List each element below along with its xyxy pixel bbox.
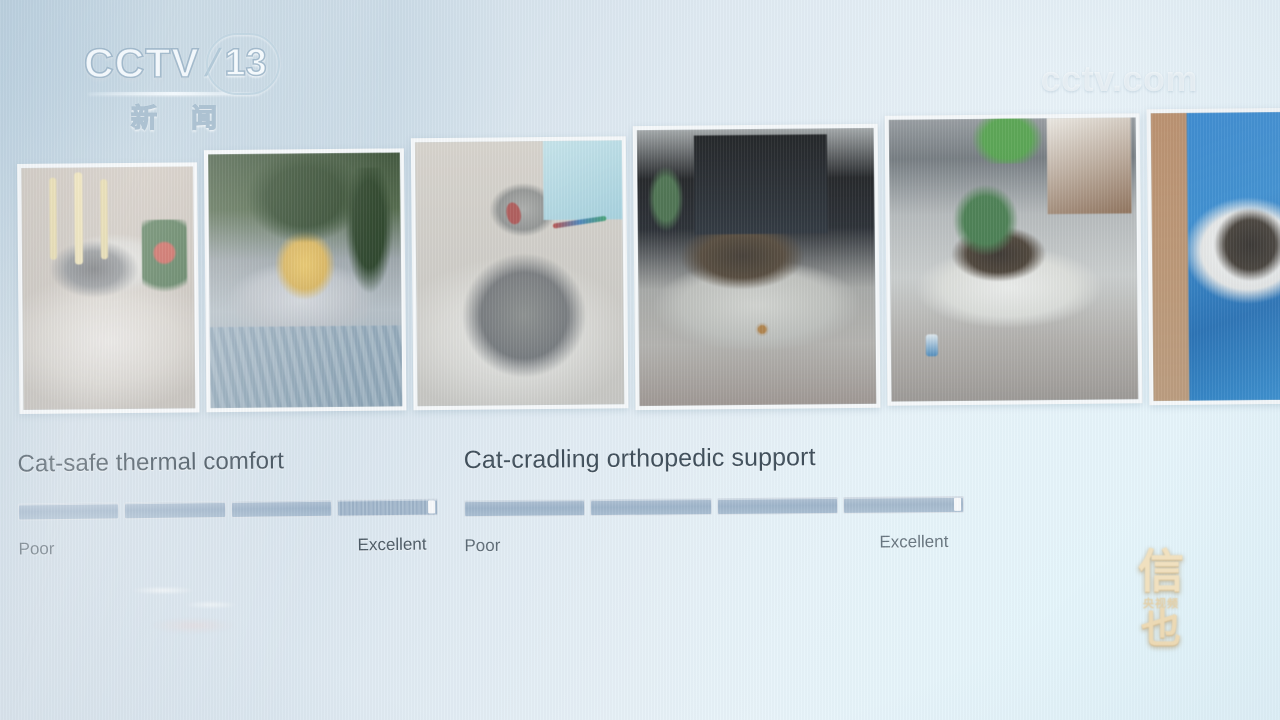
garland-decor — [142, 220, 188, 303]
rating-segment[interactable] — [590, 498, 711, 516]
photo-image-2 — [208, 152, 402, 408]
plant-foliage — [963, 113, 1052, 164]
rating-segment[interactable] — [716, 497, 837, 515]
rating-segment[interactable] — [18, 502, 119, 520]
rating-segment[interactable] — [124, 501, 225, 519]
photo-image-1 — [21, 166, 195, 410]
rating-segment[interactable] — [464, 499, 585, 517]
knit-blanket — [210, 325, 403, 408]
rating-group-thermal: Cat-safe thermal comfort Poor Excellent — [17, 445, 438, 559]
channel-chinese-label: 新 闻 — [88, 98, 260, 135]
scale-label-low: Poor — [18, 539, 54, 559]
broadcast-frame: Cat-safe thermal comfort Poor Excellent … — [0, 0, 1280, 720]
rating-title-orthopedic: Cat-cradling orthopedic support — [464, 442, 964, 475]
rating-bar-thermal[interactable] — [18, 498, 438, 520]
photo-thumbnail[interactable] — [885, 113, 1143, 405]
photo-thumbnail[interactable] — [204, 148, 407, 412]
channel-logo-row: CCTV / 13 — [84, 40, 267, 87]
network-name-text: CCTV — [84, 40, 200, 87]
plant-foliage — [642, 163, 690, 235]
photo-image-4 — [637, 128, 877, 406]
photo-thumbnail[interactable] — [411, 136, 629, 410]
photo-image-6 — [1151, 112, 1280, 401]
photo-strip — [17, 102, 1280, 414]
candle-decor — [49, 177, 57, 259]
towel-decor — [543, 140, 622, 220]
window-frame — [1047, 117, 1132, 214]
candle-decor — [100, 179, 108, 259]
ratings-panel: Cat-safe thermal comfort Poor Excellent … — [0, 432, 1280, 622]
scale-label-high: Excellent — [879, 532, 948, 553]
plant-foliage — [944, 180, 1029, 260]
rating-bar-orthopedic[interactable] — [464, 496, 964, 517]
photo-thumbnail[interactable] — [633, 124, 881, 410]
channel-number-ring-icon — [206, 33, 280, 95]
floor-edge — [1151, 113, 1189, 401]
photo-image-5 — [889, 117, 1139, 401]
photo-thumbnail[interactable] — [17, 162, 199, 414]
bed-button-detail — [757, 325, 766, 334]
rating-segment[interactable] — [337, 498, 438, 516]
rating-segment[interactable] — [843, 496, 964, 514]
chinese-glyph-xin: 新 — [131, 98, 157, 135]
scale-label-high: Excellent — [357, 535, 426, 556]
photo-thumbnail[interactable] — [1147, 108, 1280, 405]
rating-scale-thermal: Poor Excellent — [18, 534, 438, 559]
candle-decor — [74, 172, 83, 264]
rating-scale-orthopedic: Poor Excellent — [464, 532, 964, 556]
photo-image-3 — [415, 140, 625, 406]
channel-logo: CCTV / 13 新 闻 — [84, 40, 267, 135]
plant-foliage — [327, 168, 397, 311]
cat-yawn-detail — [504, 201, 522, 226]
rating-group-orthopedic: Cat-cradling orthopedic support Poor Exc… — [464, 442, 965, 556]
chinese-glyph-wen: 闻 — [191, 98, 217, 135]
rating-title-thermal: Cat-safe thermal comfort — [17, 445, 437, 478]
rating-segment[interactable] — [230, 500, 331, 518]
scale-label-low: Poor — [464, 536, 500, 556]
product-tag — [925, 334, 937, 356]
site-watermark-text: cctv.com — [1041, 58, 1198, 100]
doorway-shadow — [694, 134, 828, 235]
